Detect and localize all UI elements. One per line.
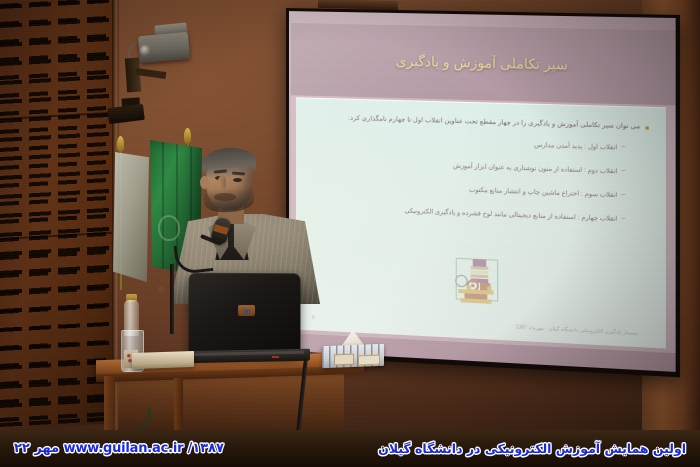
presentation-slide: سیر تکاملی آموزش و یادگیری می توان سیر ت…: [291, 23, 676, 353]
conference-photo: سیر تکاملی آموزش و یادگیری می توان سیر ت…: [0, 0, 700, 467]
dash-bullet-icon: –: [621, 166, 625, 177]
flag-finial-green: [184, 128, 191, 144]
list-item: – انقلاب سوم : اختراع ماشین چاپ و انتشار…: [306, 180, 649, 203]
list-item: – انقلاب اول : پدید آمدن مدارس: [306, 133, 649, 154]
lectern-front-panel: [118, 374, 344, 438]
caption-event-title: اولین همایش آموزش الکترونیکی در دانشگاه …: [378, 441, 686, 456]
sub-bullet-text: انقلاب چهارم : استفاده از منابع دیجیتالی…: [404, 207, 617, 226]
panel-slot-pattern-secondary: [0, 0, 118, 456]
table-leg: [174, 378, 183, 436]
microphone-stand: [170, 264, 174, 334]
presenter-nose: [218, 176, 226, 190]
presenter-hair: [201, 146, 257, 180]
list-item: – انقلاب چهارم : استفاده از منابع دیجیتا…: [306, 203, 649, 226]
slide-sub-bullet-list: – انقلاب اول : پدید آمدن مدارس – انقلاب …: [306, 133, 649, 226]
screen-surface: سیر تکاملی آموزش و یادگیری می توان سیر ت…: [289, 11, 676, 372]
tissue-box-label: [334, 354, 354, 366]
slide-page-number: ۵: [312, 314, 315, 320]
presenter-mouth: [214, 193, 236, 201]
flag-finial-white: [117, 136, 124, 152]
tissue-box-label-secondary: [358, 355, 380, 366]
slide-body: می توان سیر تکاملی آموزش و یادگیری را در…: [296, 97, 666, 348]
presenter-eye-right: [233, 178, 242, 182]
sub-bullet-text: انقلاب اول : پدید آمدن مدارس: [534, 140, 617, 153]
dash-bullet-icon: –: [621, 190, 625, 201]
presenter-ear: [200, 176, 209, 189]
list-item: – انقلاب دوم : استفاده از متون نوشتاری ب…: [306, 157, 649, 179]
slide-main-bullet-text: می توان سیر تکاملی آموزش و یادگیری را در…: [348, 113, 640, 135]
square-bullet-icon: [646, 126, 649, 129]
laptop-status-led: [272, 356, 279, 358]
projection-screen: سیر تکاملی آموزش و یادگیری می توان سیر ت…: [286, 8, 680, 377]
caption-bar: www.guilan.ac.ir /۱۳۸۷ مهر ۲۲ اولین همای…: [0, 430, 700, 467]
flag-white: [113, 152, 149, 282]
dash-bullet-icon: –: [621, 142, 625, 153]
caption-url-date: www.guilan.ac.ir /۱۳۸۷ مهر ۲۲: [14, 441, 224, 456]
printing-press-clipart: [445, 254, 509, 310]
slide-footer-text: سمینار یادگیری الکترونیکی دانشگاه گیلان …: [515, 324, 638, 336]
hp-logo: hp: [238, 305, 255, 316]
sub-bullet-text: انقلاب سوم : اختراع ماشین چاپ و انتشار م…: [469, 185, 617, 201]
dash-bullet-icon: –: [621, 214, 625, 225]
slide-main-bullet: می توان سیر تکاملی آموزش و یادگیری را در…: [306, 112, 649, 135]
sub-bullet-text: انقلاب دوم : استفاده از متون نوشتاری به …: [453, 161, 617, 177]
book-stack: [132, 351, 194, 369]
